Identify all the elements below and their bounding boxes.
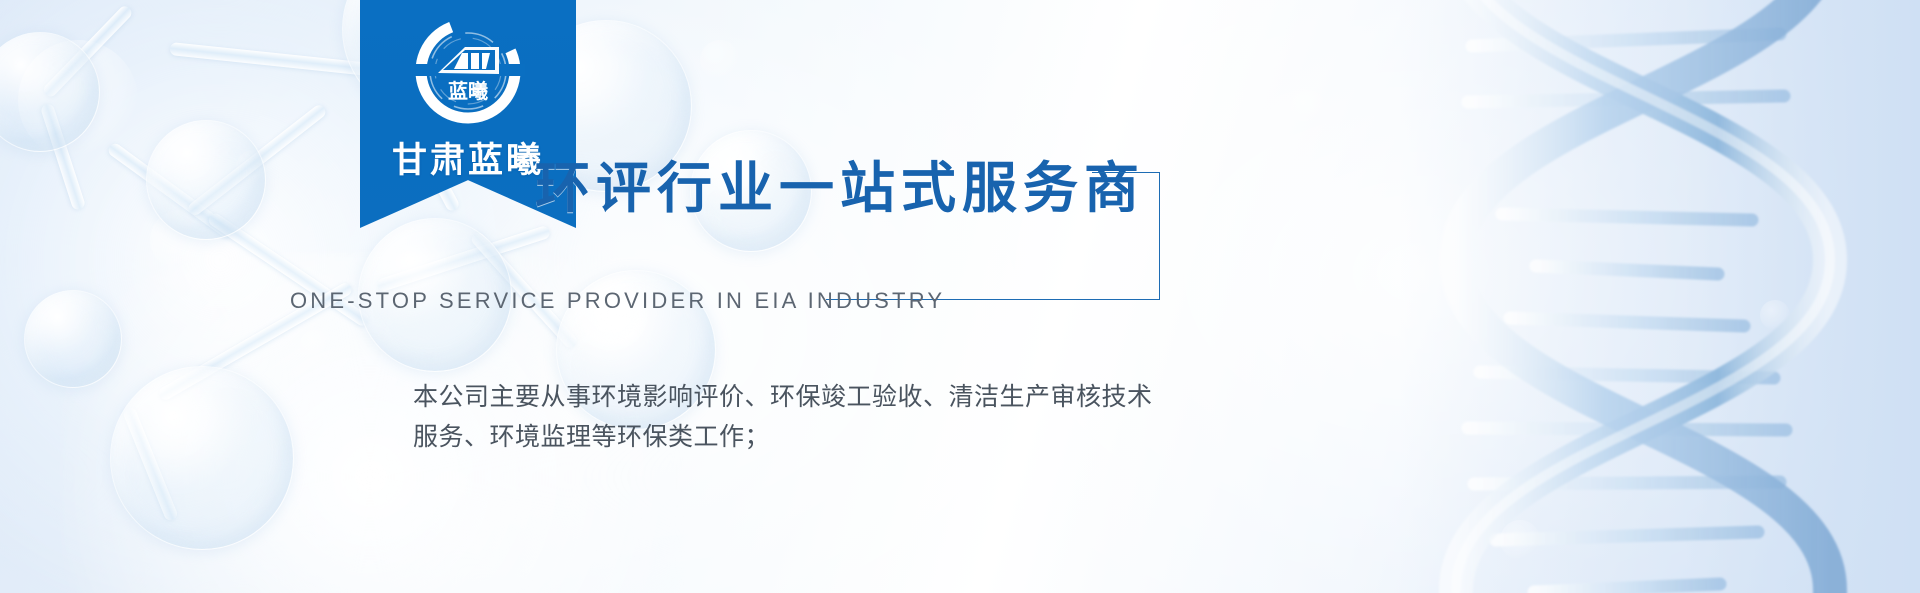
atom-sphere <box>110 366 294 550</box>
connector-top-line <box>1092 172 1160 173</box>
page-subtitle: ONE-STOP SERVICE PROVIDER IN EIA INDUSTR… <box>290 288 945 314</box>
bokeh-dot <box>1290 90 1326 126</box>
dna-helix-icon <box>1360 0 1920 593</box>
intro-line: 服务、环境监理等环保类工作； <box>413 417 1193 457</box>
connector-vertical-line <box>1159 172 1160 300</box>
bokeh-dot <box>700 40 740 80</box>
atom-sphere <box>24 290 122 388</box>
intro-paragraph: 本公司主要从事环境影响评价、环保竣工验收、清洁生产审核技术 服务、环境监理等环保… <box>413 377 1193 457</box>
intro-line: 本公司主要从事环境影响评价、环保竣工验收、清洁生产审核技术 <box>413 377 1193 417</box>
banner-stage: 蓝曦 甘肃蓝曦 环评行业一站式服务商 ONE-STOP SERVICE PROV… <box>0 0 1920 593</box>
page-title: 环评行业一站式服务商 <box>535 143 1145 223</box>
atom-sphere <box>146 120 266 240</box>
bokeh-dot <box>950 500 1002 552</box>
logo-mark-text: 蓝曦 <box>448 79 488 103</box>
lanxi-circle-logo-icon: 蓝曦 <box>407 12 529 134</box>
